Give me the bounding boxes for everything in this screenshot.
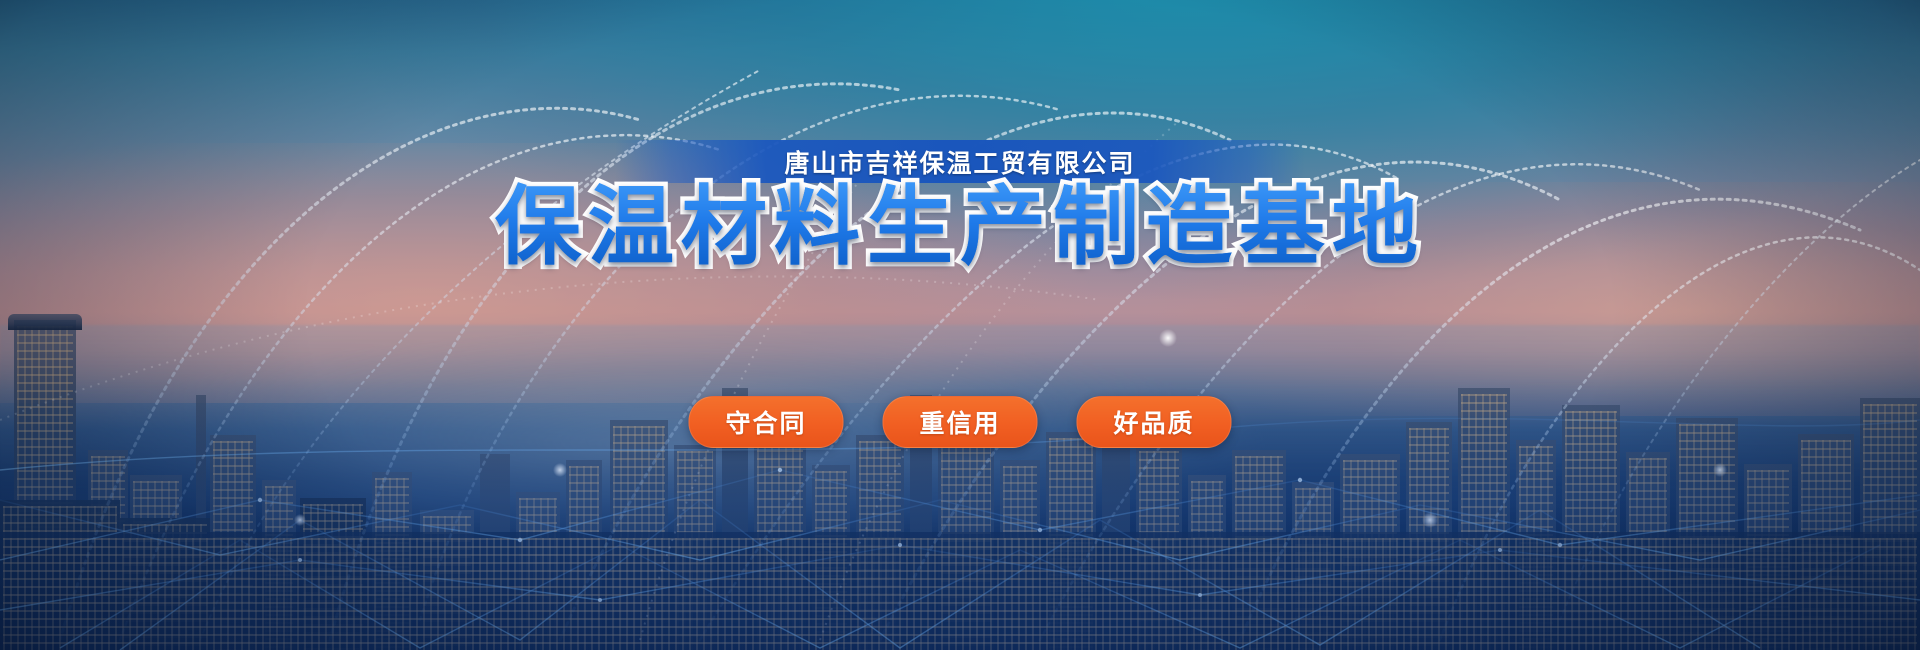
headline-title: 保温材料生产制造基地	[495, 182, 1425, 272]
company-name: 唐山市吉祥保温工贸有限公司	[784, 144, 1135, 180]
badge-label: 好品质	[1113, 404, 1194, 440]
banner-content: 唐山市吉祥保温工贸有限公司 保温材料生产制造基地 保温材料生产制造基地 守合同 …	[0, 0, 1920, 650]
badge-list: 守合同 重信用 好品质	[689, 396, 1232, 448]
badge-label: 重信用	[919, 404, 1000, 440]
badge-label: 守合同	[725, 404, 806, 440]
badge-contract[interactable]: 守合同	[689, 396, 844, 448]
headline-wrap: 保温材料生产制造基地 保温材料生产制造基地	[495, 182, 1425, 272]
hero-banner: 唐山市吉祥保温工贸有限公司 保温材料生产制造基地 保温材料生产制造基地 守合同 …	[0, 0, 1920, 650]
company-name-band: 唐山市吉祥保温工贸有限公司	[615, 140, 1305, 183]
badge-credit[interactable]: 重信用	[883, 396, 1038, 448]
badge-quality[interactable]: 好品质	[1077, 396, 1232, 448]
